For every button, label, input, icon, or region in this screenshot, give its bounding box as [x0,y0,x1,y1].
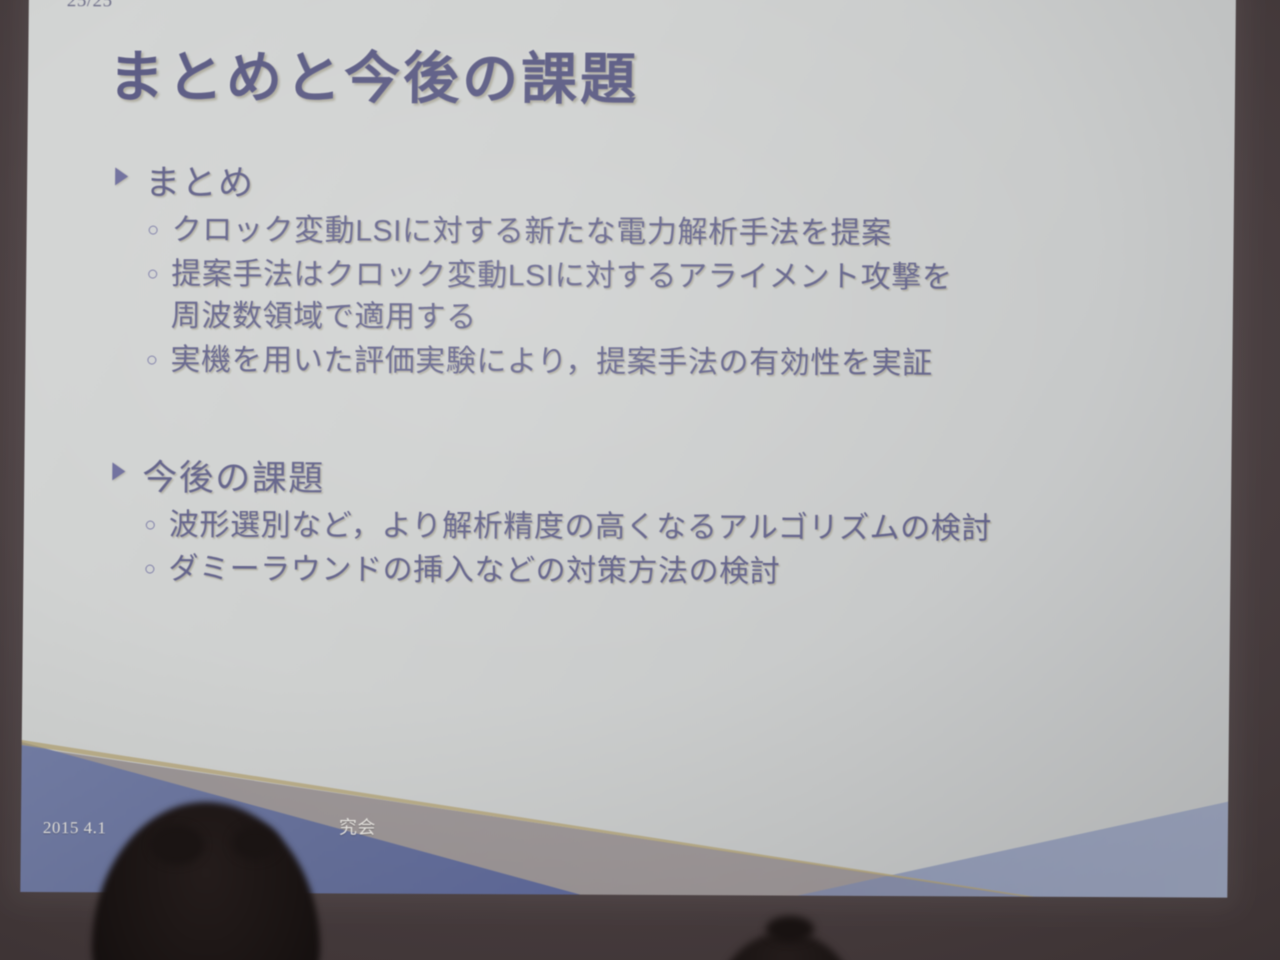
audience-hair-tuft [232,826,278,860]
list-item: 波形選別など，より解析精度の高くなるアルゴリズムの検討 [146,505,1192,553]
hollow-circle-bullet-icon [146,521,155,530]
list-item-label: クロック変動LSIに対する新たな電力解析手法を提案 [171,210,891,256]
hollow-circle-bullet-icon [147,355,156,364]
section-heading-row: まとめ [115,154,1195,210]
hollow-circle-bullet-icon [148,269,157,278]
projection-room: 25/25 まとめと今後の課題 まとめ クロック変動LSIに対する新たな電力解析… [0,0,1280,960]
slide-page-number: 25/25 [67,0,113,12]
hollow-circle-bullet-icon [145,565,154,574]
slide-body: まとめ クロック変動LSIに対する新たな電力解析手法を提案 提案手法はクロック変… [111,154,1195,610]
slide-section-matome: まとめ クロック変動LSIに対する新たな電力解析手法を提案 提案手法はクロック変… [113,154,1195,386]
list-item: クロック変動LSIに対する新たな電力解析手法を提案 [148,210,1194,258]
triangle-right-icon [112,463,125,481]
list-item: 提案手法はクロック変動LSIに対するアライメント攻撃を 周波数領域で適用する [148,253,1195,343]
footer-wedge-right [797,800,1228,898]
section-heading-label: 今後の課題 [142,450,325,502]
slide-title: まとめと今後の課題 [108,32,640,115]
list-item-label: ダミーラウンドの挿入などの対策方法の検討 [168,549,780,594]
audience-hair-tuft [766,916,814,942]
list-item-label: 提案手法はクロック変動LSIに対するアライメント攻撃を 周波数領域で適用する [171,253,953,342]
list-item: 実機を用いた評価実験により，提案手法の有効性を実証 [147,339,1193,387]
list-item-label: 波形選別など，より解析精度の高くなるアルゴリズムの検討 [169,505,993,551]
audience-hair-tuft [150,825,204,865]
slide-section-kongo-no-kadai: 今後の課題 波形選別など，より解析精度の高くなるアルゴリズムの検討 ダミーラウン… [111,450,1192,596]
footer-venue: 究会 [339,813,376,839]
triangle-right-icon [115,167,128,185]
section-spacer [113,396,1194,455]
projected-slide-surface: 25/25 まとめと今後の課題 まとめ クロック変動LSIに対する新たな電力解析… [20,0,1236,898]
presentation-slide: 25/25 まとめと今後の課題 まとめ クロック変動LSIに対する新たな電力解析… [20,0,1236,898]
list-item: ダミーラウンドの挿入などの対策方法の検討 [145,549,1191,597]
section-heading-row: 今後の課題 [112,450,1192,506]
footer-date: 2015 4.1 [43,818,107,838]
section-heading-label: まとめ [145,155,255,207]
list-item-label: 実機を用いた評価実験により，提案手法の有効性を実証 [170,339,933,385]
hollow-circle-bullet-icon [149,226,158,235]
